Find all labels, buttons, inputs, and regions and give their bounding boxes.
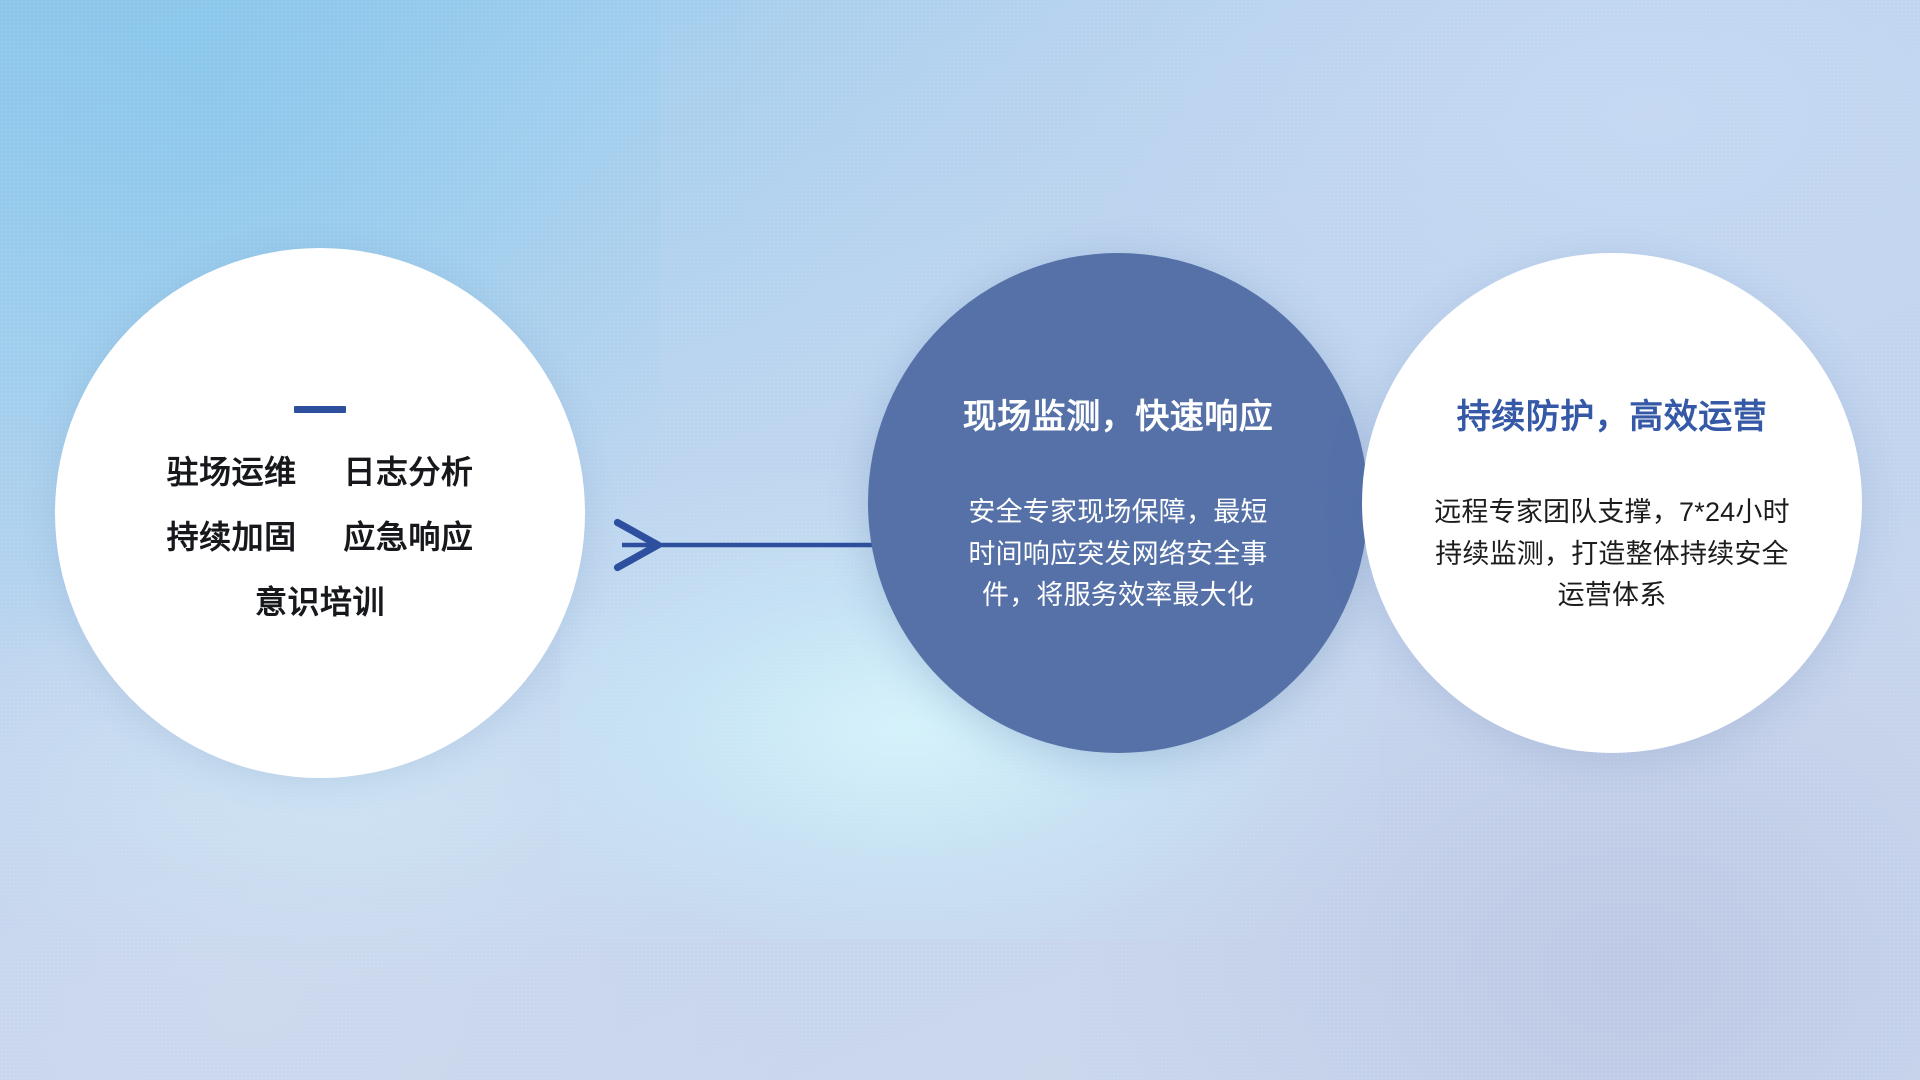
keyword-row-3: 意识培训 [255,585,385,620]
keyword-zhuchangyunwei: 驻场运维 [167,454,297,490]
divider-dash-icon [294,406,346,413]
keyword-rizhifenxi: 日志分析 [343,454,473,490]
keyword-yingjixiangying: 应急响应 [343,519,473,555]
right-circle-title: 持续防护，高效运营 [1457,389,1768,438]
right-circle-body: 远程专家团队支撑，7*24小时持续监测，打造整体持续安全运营体系 [1433,492,1791,618]
arrow-left-icon [560,500,880,590]
middle-onsite-circle[interactable]: 现场监测，快速响应 安全专家现场保障，最短时间响应突发网络安全事件，将服务效率最… [868,253,1368,753]
middle-circle-title: 现场监测，快速响应 [963,389,1274,438]
right-operations-circle[interactable]: 持续防护，高效运营 远程专家团队支撑，7*24小时持续监测，打造整体持续安全运营… [1362,253,1862,753]
left-capability-circle[interactable]: 驻场运维 日志分析 持续加固 应急响应 意识培训 [55,248,585,778]
middle-circle-body: 安全专家现场保障，最短时间响应突发网络安全事件，将服务效率最大化 [968,492,1268,618]
keyword-row-2: 持续加固 应急响应 [167,520,474,555]
keyword-row-1: 驻场运维 日志分析 [167,455,474,490]
keyword-yishipeixun: 意识培训 [255,584,385,620]
keyword-chixujiagu: 持续加固 [167,519,297,555]
slide-canvas: 驻场运维 日志分析 持续加固 应急响应 意识培训 现场监测，快速响应 安全专家现… [0,0,1920,1080]
